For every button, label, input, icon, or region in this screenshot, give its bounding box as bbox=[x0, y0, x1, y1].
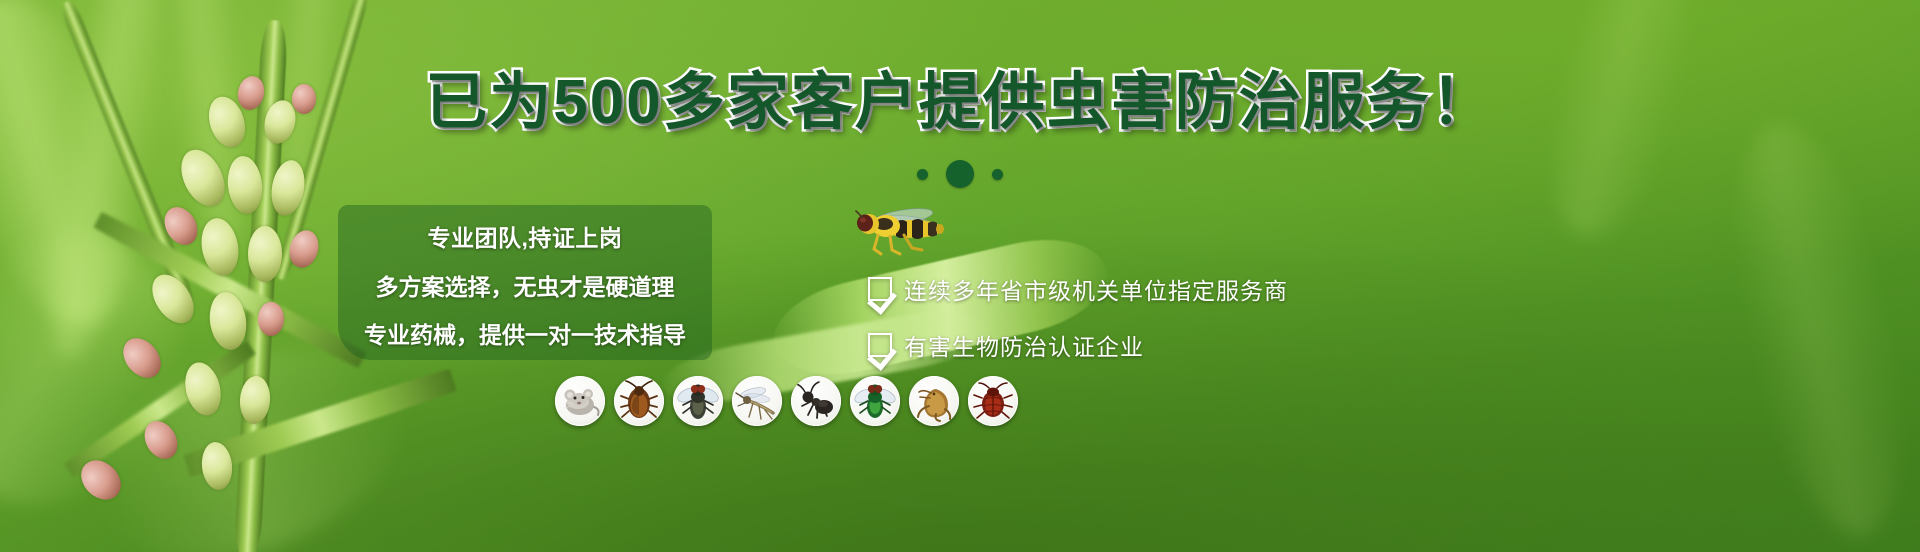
housefly-icon[interactable] bbox=[673, 376, 723, 426]
checkbox-checked-icon bbox=[868, 333, 892, 357]
list-item: 有害生物防治认证企业 bbox=[868, 328, 1288, 362]
hoverfly-icon bbox=[848, 200, 958, 260]
pest-icon-row bbox=[555, 376, 1018, 426]
mosquito-icon[interactable] bbox=[732, 376, 782, 426]
flea-icon[interactable] bbox=[909, 376, 959, 426]
flower-bud bbox=[116, 331, 169, 385]
list-item: 连续多年省市级机关单位指定服务商 bbox=[868, 272, 1288, 306]
credential-label: 连续多年省市级机关单位指定服务商 bbox=[904, 272, 1288, 306]
flower-bud bbox=[258, 302, 284, 336]
banner-headline-text: 已为500多家客户提供虫害防治服务！ bbox=[425, 68, 1494, 137]
flower-bud bbox=[248, 226, 282, 282]
checkbox-checked-icon bbox=[868, 277, 892, 301]
banner-headline: 已为500多家客户提供虫害防治服务！ bbox=[0, 72, 1920, 134]
pest-control-hero-banner: 已为500多家客户提供虫害防治服务！ 专业团队,持证上岗 多方案选择，无虫才是硬… bbox=[0, 0, 1920, 552]
credentials-checklist: 连续多年省市级机关单位指定服务商 有害生物防治认证企业 bbox=[868, 272, 1288, 362]
selling-point-line-1: 专业团队,持证上岗 bbox=[354, 219, 696, 253]
ant-icon[interactable] bbox=[791, 376, 841, 426]
green-blowfly-icon[interactable] bbox=[850, 376, 900, 426]
bedbug-icon[interactable] bbox=[968, 376, 1018, 426]
selling-points-panel: 专业团队,持证上岗 多方案选择，无虫才是硬道理 专业药械，提供一对一技术指导 bbox=[338, 205, 712, 360]
dot-small-icon bbox=[992, 169, 1003, 180]
decorative-dots bbox=[0, 160, 1920, 188]
dot-large-icon bbox=[946, 160, 974, 188]
credential-label: 有害生物防治认证企业 bbox=[904, 328, 1144, 362]
selling-point-line-3: 专业药械，提供一对一技术指导 bbox=[354, 316, 696, 350]
mouse-icon[interactable] bbox=[555, 376, 605, 426]
dot-small-icon bbox=[917, 169, 928, 180]
selling-point-line-2: 多方案选择，无虫才是硬道理 bbox=[354, 268, 696, 302]
cockroach-icon[interactable] bbox=[614, 376, 664, 426]
